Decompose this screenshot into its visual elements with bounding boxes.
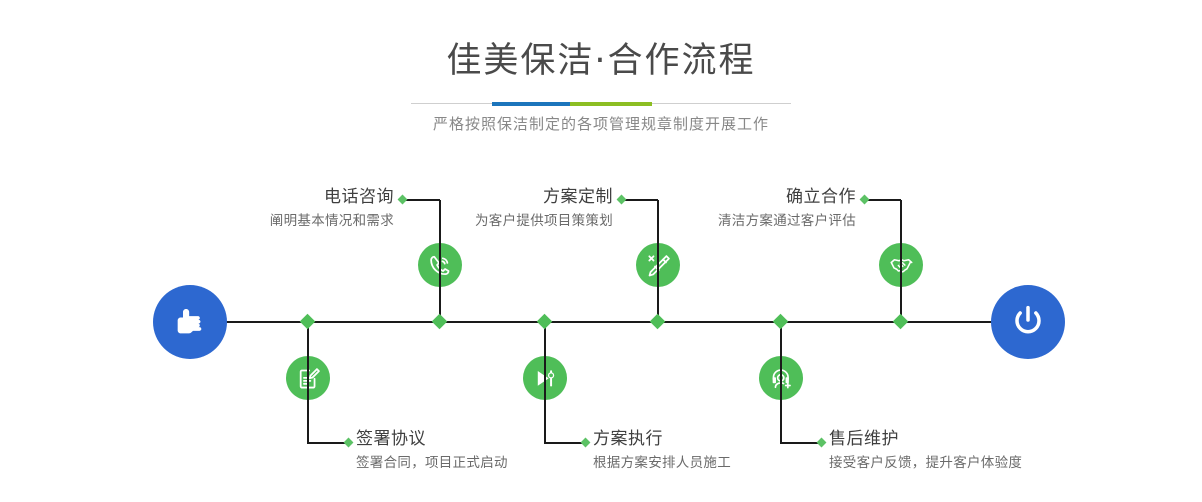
step-title-4: 方案执行 xyxy=(593,431,731,448)
step-desc-5: 接受客户反馈，提升客户体验度 xyxy=(829,457,1022,471)
step-label-6: 确立合作 清洁方案通过客户评估 xyxy=(620,189,856,229)
page-subtitle: 严格按照保洁制定的各项管理规章制度开展工作 xyxy=(0,117,1202,132)
step-title-2: 签署协议 xyxy=(356,431,508,448)
step-connector-5 xyxy=(780,322,782,443)
power-icon xyxy=(1008,302,1048,342)
step-label-marker-5 xyxy=(817,438,827,448)
step-label-marker-2 xyxy=(344,438,354,448)
page-title: 佳美保洁·合作流程 xyxy=(0,44,1202,79)
step-desc-6: 清洁方案通过客户评估 xyxy=(620,215,856,229)
step-label-2: 签署协议 签署合同，项目正式启动 xyxy=(356,431,508,471)
step-label-connector-5 xyxy=(780,442,821,444)
step-label-connector-6 xyxy=(868,199,901,201)
step-label-4: 方案执行 根据方案安排人员施工 xyxy=(593,431,731,471)
step-desc-4: 根据方案安排人员施工 xyxy=(593,457,731,471)
divider-segment-green xyxy=(570,102,652,106)
step-label-connector-2 xyxy=(307,442,348,444)
step-desc-3: 为客户提供项目策策划 xyxy=(370,215,613,229)
step-label-marker-6 xyxy=(860,195,870,205)
cooperation-flow-infographic: 佳美保洁·合作流程 严格按照保洁制定的各项管理规章制度开展工作 xyxy=(0,0,1202,502)
header: 佳美保洁·合作流程 严格按照保洁制定的各项管理规章制度开展工作 xyxy=(0,0,1202,132)
step-label-5: 售后维护 接受客户反馈，提升客户体验度 xyxy=(829,431,1022,471)
step-title-5: 售后维护 xyxy=(829,431,1022,448)
flow-end-node[interactable] xyxy=(991,285,1065,359)
step-connector-6 xyxy=(900,200,902,322)
step-title-1: 电话咨询 xyxy=(150,189,394,206)
step-desc-2: 签署合同，项目正式启动 xyxy=(356,457,508,471)
step-connector-2 xyxy=(307,322,309,443)
step-title-3: 方案定制 xyxy=(370,189,613,206)
step-connector-4 xyxy=(544,322,546,443)
step-label-3: 方案定制 为客户提供项目策策划 xyxy=(370,189,613,229)
step-axis-marker-4 xyxy=(537,314,553,330)
step-axis-marker-5 xyxy=(773,314,789,330)
step-label-connector-4 xyxy=(544,442,585,444)
divider-segment-blue xyxy=(492,102,570,106)
step-title-6: 确立合作 xyxy=(620,189,856,206)
step-label-marker-4 xyxy=(581,438,591,448)
title-divider xyxy=(411,102,791,106)
step-axis-marker-3 xyxy=(650,314,666,330)
flow-start-node[interactable] xyxy=(153,285,227,359)
step-desc-1: 阐明基本情况和需求 xyxy=(150,215,394,229)
step-label-1: 电话咨询 阐明基本情况和需求 xyxy=(150,189,394,229)
pointing-hand-icon xyxy=(170,302,210,342)
step-axis-marker-2 xyxy=(300,314,316,330)
step-axis-marker-6 xyxy=(893,314,909,330)
step-axis-marker-1 xyxy=(432,314,448,330)
